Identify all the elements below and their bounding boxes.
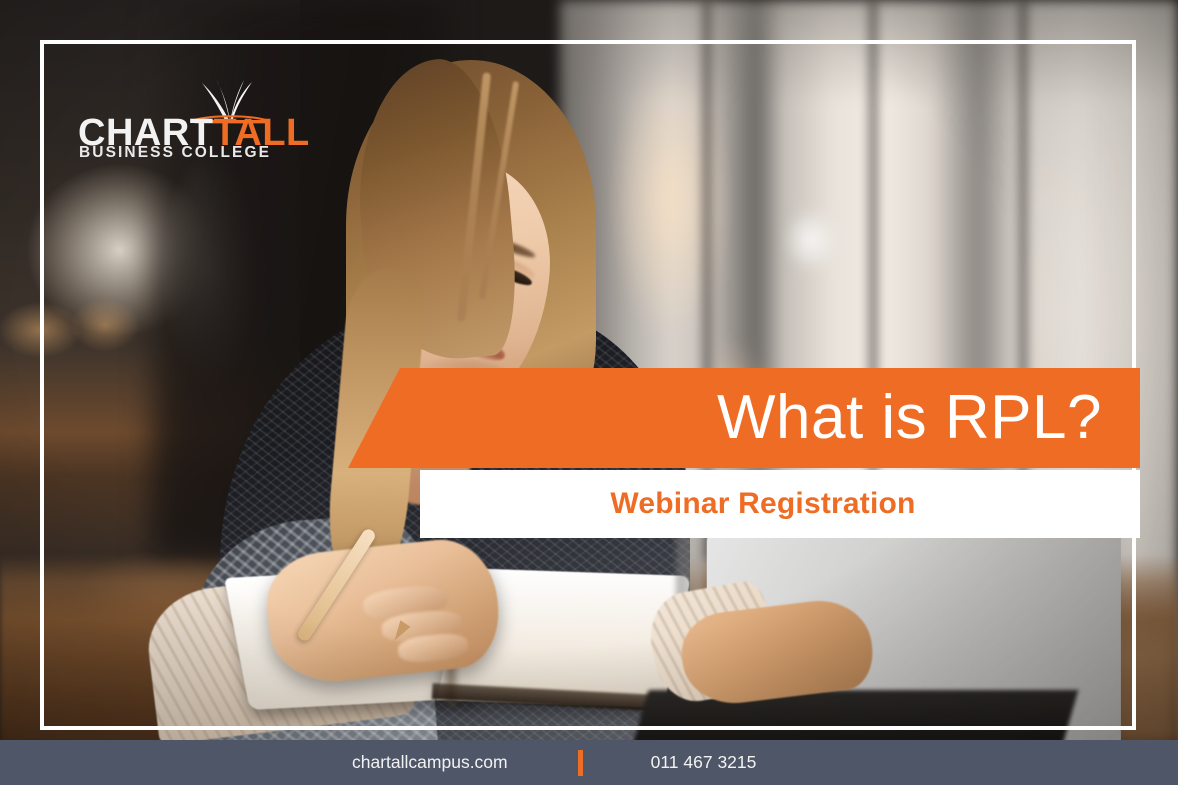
page-title: What is RPL? [340,368,1102,468]
logo: CHARTTALL BUSINESS COLLEGE [78,78,278,160]
logo-tagline: BUSINESS COLLEGE [79,144,271,162]
title-band: What is RPL? [340,368,1140,468]
footer-contact-group: chartallcampus.com 011 467 3215 [352,750,756,776]
footer-website[interactable]: chartallcampus.com [352,752,508,773]
footer-bar: chartallcampus.com 011 467 3215 [0,740,1178,785]
footer-divider-icon [578,750,583,776]
hand-writing [262,534,504,687]
page-subtitle: Webinar Registration [420,470,1140,538]
subtitle-band: Webinar Registration [420,470,1140,538]
promotional-banner: CHARTTALL BUSINESS COLLEGE What is RPL? … [0,0,1178,785]
footer-phone[interactable]: 011 467 3215 [651,752,757,773]
